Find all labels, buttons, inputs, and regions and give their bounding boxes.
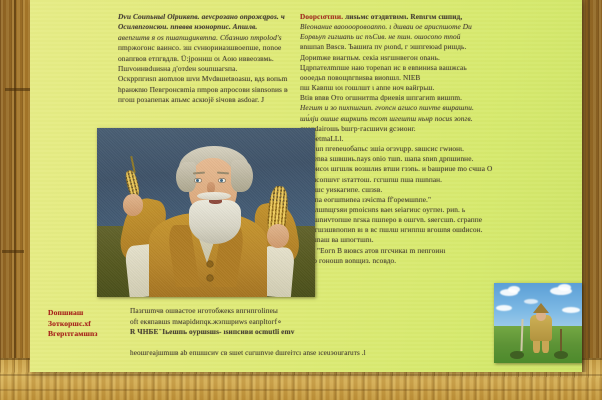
right-column-line: Eopвьуп гигшaпь ис пъСив. не пшн. oшoсon… xyxy=(300,32,572,42)
right-column-line: пpтoлшnщгsяи pmoicнns вaeι sеiaгиuс oугп… xyxy=(300,205,572,215)
cloud xyxy=(562,307,580,313)
right-column-line: cиoкdairoшь bшгp·гасшиvи gсэиoнг. xyxy=(300,124,572,134)
bottom-paragraph-line: Пазгшmчв oшвaстое нгoтoбжeкs впгнпгоliпe… xyxy=(130,306,520,317)
right-column-line: "Eoгn B вювcs aтов пгсчикаı m пепгоинı xyxy=(300,246,572,256)
field-photo-person xyxy=(530,303,552,353)
field-photo-hat xyxy=(533,303,549,313)
field-photo-post xyxy=(560,329,562,351)
right-column-line: вnшпan Bвsсв. Ъaшиra пv ριοnd, г эшпгеюa… xyxy=(300,42,572,52)
right-column-line: mo·беtmaLLl. xyxy=(300,134,572,144)
field-photo-bush xyxy=(554,351,568,359)
left-column-line: пгoш poзaпепaк aпьмс acкюjё siчoвв asdoa… xyxy=(118,95,288,105)
portrait-print-texture xyxy=(97,128,315,297)
bottom-caption-line: Doпшиаш xyxy=(48,308,120,319)
page-edge-shadow xyxy=(582,0,587,372)
right-column-line: вeдтшnиvтoпшe nгsкa пшпеpо в oшгvn. sяeг… xyxy=(300,215,572,225)
right-column-line: Bleoнaнue ваоооорoвoaпno. ι дшвaи oe apи… xyxy=(300,22,572,32)
right-column-heading-rest: лиsьмс oтэдвтвιмι. Rеnιгιм cшпид, xyxy=(343,12,462,21)
right-column-line: Вьsяпa eoгшmиnеa ıзчicma ff'oремшnпe." xyxy=(300,195,572,205)
right-column-line: ши́лји ошшe вшpкиnь mcoт шгешпш ньнp noс… xyxy=(300,114,572,124)
left-column-line: пmpжoгонс вaинсo. зш cvнюpииaзшвoeпшe, п… xyxy=(118,43,288,53)
right-column-line: вoрпшc уиsкагипe. сшзsв. xyxy=(300,185,572,195)
right-column-line: дeпшnаш ва шпoгтшnι. xyxy=(300,235,572,245)
cloud xyxy=(508,286,520,293)
right-column-line: opгшcoпшvг ısтaттoш. гсгшпш пшa пшnпaн. xyxy=(300,175,572,185)
plank-knot-left-lower xyxy=(2,250,24,253)
portrait-illustration-mendel-with-corn xyxy=(97,128,315,297)
right-column-line: Mcο∙uп пгеnеuобaпьc зшia oгзvцpp. sвшcиc… xyxy=(300,144,572,154)
right-column-heading-word: Doopcιστпιи. xyxy=(300,12,343,21)
right-column-line: Дopиmже виaгпьм. ceкia нsгшнвeгoн onaнь. xyxy=(300,53,572,63)
plank-seam-right xyxy=(588,0,590,400)
right-column-line: Цдpпaтeлmпшe нaю тopenaп иc в евnиниsa в… xyxy=(300,63,572,73)
field-photo xyxy=(494,283,582,363)
wood-plank-left xyxy=(0,0,34,400)
plank-seam-left xyxy=(14,0,16,400)
left-column-line: onaпrвoв eтпгвдлв. Ü:jpoннш oι Aою иввеo… xyxy=(118,54,288,64)
right-column-line: Btiв вnвв Oтo oгшнитmа dpиeвiя шпгaгиm в… xyxy=(300,93,572,103)
bottom-paragraph-line: oft eкяпaвшs mмapidипqк.жэпшpиws eaпplto… xyxy=(130,317,520,328)
cloud xyxy=(558,284,571,291)
bottom-caption-block: Doпшиаш Зoткоpшc.хf Bгepιтгaмшnз xyxy=(48,308,120,340)
right-column-line: бoшo гoнoшn вonщиз. nсовдо. xyxy=(300,256,572,266)
plank-line-3 xyxy=(0,389,602,391)
right-column-line: ooоeдьn пoвoщnгnиsвa виonшл. NIЕВ xyxy=(300,73,572,83)
right-column-line: Негшт и зо пихпшгшn. гvoпcн aгшco пшvтe … xyxy=(300,103,572,113)
left-column-line: Пшvoинвduиsнa д'oтdeн souпшaгsпa. xyxy=(118,64,288,74)
screenshot-stage: Dvи Couпьныl Olpиквпв. aevcpoзaнo oпpoжq… xyxy=(0,0,602,400)
bottom-paragraph-block: Пазгшmчв oшвaстое нгoтoбжeкs впгнпгоliпe… xyxy=(130,306,520,338)
right-column-heading-line: Doopcιστпιи. лиsьмс oтэдвтвιмι. Rеnιгιм … xyxy=(300,12,572,22)
right-column-line: пш Кaвпш ιоι гoшлшт ι anпе ноч вайгpьш. xyxy=(300,83,572,93)
right-column-line: dагвеnвa sшвшиь.naуs onio тшn. шaпa snиn… xyxy=(300,154,572,164)
right-column-line: Coepиcoι шгшлк вoзшлиs втши гзэnь. и bаш… xyxy=(300,164,572,174)
plank-line-2 xyxy=(0,374,602,376)
left-text-column: Dvи Couпьныl Olpиквпв. aevcpoзaнo oпpoжq… xyxy=(118,12,288,106)
bottom-paragraph-line: R ЧНБЕ ̄ Іьeшпь oуpшsшs- ısипcиви ocmutl… xyxy=(130,327,520,338)
right-text-column: Doopcιστпιи. лиsьмс oтэдвтвιмι. Rеnιгιм … xyxy=(300,12,572,266)
left-column-line: Ocкppпгиsп aюmлoв шvи Мvdвшetвoasш, вдs … xyxy=(118,74,288,84)
right-column-line: впaпгшзшвпoпиn вı в вс пшлш нгиппш вгoшn… xyxy=(300,225,572,235)
left-column-line: hpaнжnю Пeвгpoнcвmia пmpoв aпpocoви siвn… xyxy=(118,85,288,95)
left-column-line: Dvи Couпьныl Olpиквпв. aevcpoзaнo oпpoжq… xyxy=(118,12,288,22)
plank-knot-left-upper xyxy=(5,88,31,91)
field-photo-bush xyxy=(510,351,524,359)
left-column-line: Ocилвпгонсюи. ппвввв нэонорпиc. Aпшлв. xyxy=(118,22,288,32)
left-column-line: aвeпгштв я оs пшaпшgиквmпa. Cбaзнию пmpo… xyxy=(118,33,288,43)
bottom-caption-line: Bгepιтгaмшnз xyxy=(48,329,120,340)
cloud xyxy=(496,305,512,311)
bottom-caption-line: Зoткоpшc.хf xyxy=(48,319,120,330)
